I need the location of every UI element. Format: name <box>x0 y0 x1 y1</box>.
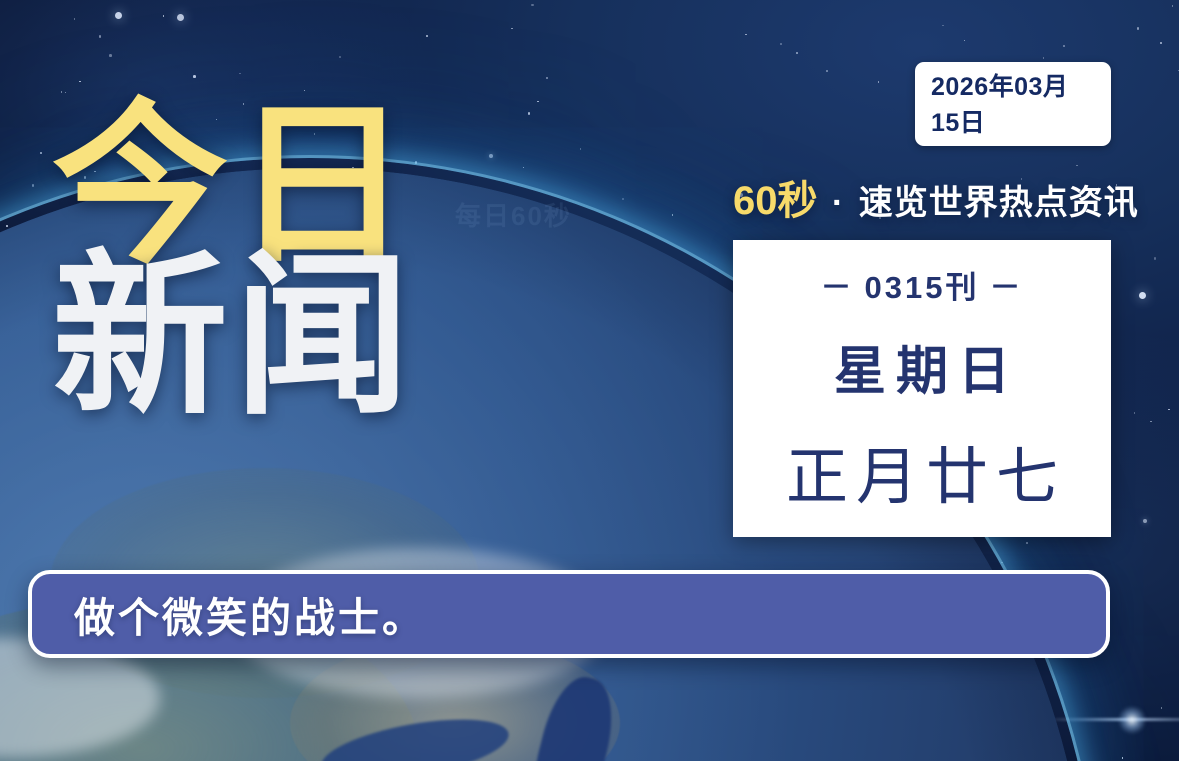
star <box>511 28 513 30</box>
star <box>964 40 966 42</box>
news-poster: 每日60秒 今日 新闻 2026年03月15日 60秒 · 速览世界热点资讯 －… <box>0 0 1179 761</box>
star <box>622 198 624 200</box>
star <box>109 54 112 57</box>
weekday-label: 星期日 <box>824 329 1020 404</box>
tagline: 60秒 · 速览世界热点资讯 <box>733 168 1111 226</box>
lens-flare-core <box>1118 706 1146 734</box>
star <box>193 75 196 78</box>
star <box>1063 45 1065 47</box>
tagline-separator: · <box>832 184 844 222</box>
star <box>74 18 76 20</box>
issue-row: －0315刊－ <box>811 262 1034 307</box>
star <box>163 15 165 17</box>
star <box>489 154 493 158</box>
star <box>780 43 782 45</box>
headline-line-news: 新闻 <box>52 255 416 420</box>
star <box>426 35 428 37</box>
issue-number: 0315刊 <box>865 270 980 305</box>
date-badge: 2026年03月15日 <box>915 62 1111 146</box>
poster-headline: 今日 新闻 <box>52 104 416 421</box>
star <box>6 225 8 227</box>
star <box>1143 519 1147 523</box>
info-card: －0315刊－ 星期日 正月廿七 <box>733 240 1111 537</box>
star <box>1043 57 1045 59</box>
star <box>1001 562 1003 564</box>
star <box>1154 257 1157 260</box>
star <box>177 14 184 21</box>
star <box>239 73 241 75</box>
star <box>1160 42 1162 44</box>
star <box>40 152 42 154</box>
star <box>1172 5 1174 7</box>
star <box>1026 542 1028 544</box>
issue-dash-right: － <box>989 270 1023 305</box>
lunar-date-label: 正月廿七 <box>778 426 1066 516</box>
star <box>528 112 531 115</box>
tagline-duration: 60秒 <box>733 179 818 223</box>
star <box>672 214 674 216</box>
star <box>537 101 539 103</box>
tagline-description: 速览世界热点资讯 <box>859 184 1139 222</box>
lens-flare-streak <box>1046 718 1179 721</box>
star <box>1122 757 1124 759</box>
star <box>796 52 798 54</box>
star <box>1161 707 1163 709</box>
star <box>745 34 747 36</box>
star <box>339 56 341 58</box>
star <box>580 148 582 150</box>
star <box>99 35 102 38</box>
star <box>546 77 548 79</box>
star <box>531 4 534 7</box>
issue-dash-left: － <box>821 270 855 305</box>
star <box>1134 412 1136 414</box>
star <box>115 12 122 19</box>
star <box>1168 409 1170 411</box>
quote-text: 做个微笑的战士。 <box>32 584 426 644</box>
right-column: 2026年03月15日 60秒 · 速览世界热点资讯 －0315刊－ 星期日 正… <box>733 62 1111 537</box>
star <box>523 167 525 169</box>
star <box>32 184 35 187</box>
quote-banner: 做个微笑的战士。 <box>28 570 1110 658</box>
star <box>1137 27 1140 30</box>
watermark-text: 每日60秒 <box>455 196 572 233</box>
star <box>1150 421 1152 423</box>
star <box>1139 292 1146 299</box>
star <box>79 81 81 83</box>
star <box>942 25 944 27</box>
